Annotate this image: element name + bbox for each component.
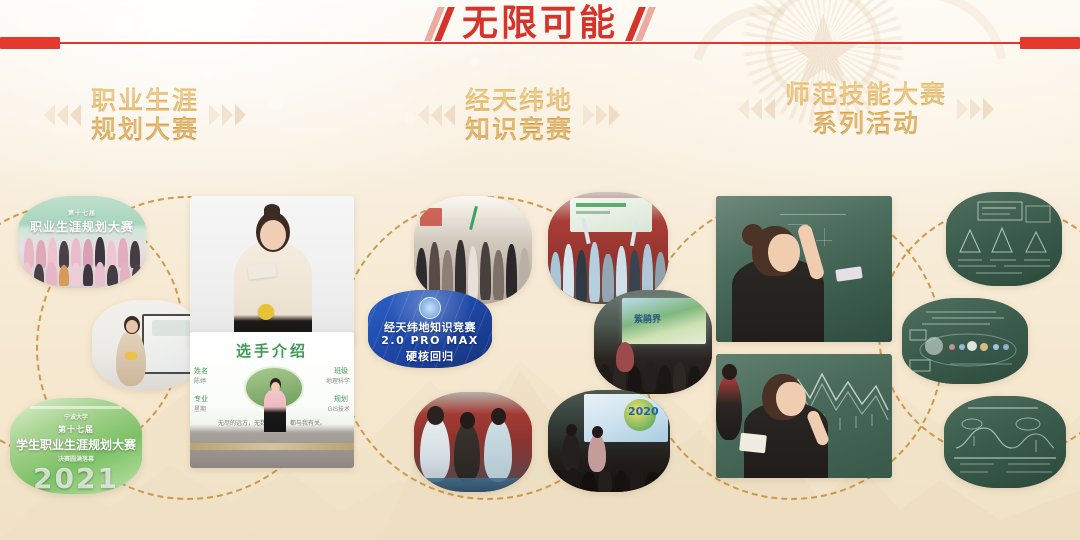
speaker-portrait-photo[interactable] bbox=[190, 196, 354, 344]
slide-year: 2020 bbox=[628, 405, 659, 418]
poster-caption-line2: 学生职业生涯规划大赛 bbox=[10, 436, 142, 453]
career-contest-poster[interactable]: 宁波大学 第十七届 学生职业生涯规划大赛 决赛圆满落幕 2021 bbox=[10, 398, 142, 494]
poster-year: 2021 bbox=[10, 462, 142, 494]
section-title-line1: 职业生涯 bbox=[91, 86, 199, 115]
chevrons-left-icon bbox=[418, 104, 455, 126]
mountain-texture bbox=[0, 240, 1080, 540]
section-headings: 职业生涯 规划大赛 经天纬地 知识竞赛 师范技能大赛 系列活动 bbox=[0, 84, 1080, 166]
lecture-projection-photo[interactable]: 紫鹃界 bbox=[594, 290, 712, 394]
blackboard-thumb-mountain-wind[interactable] bbox=[946, 192, 1062, 286]
slide-title: 选手介绍 bbox=[190, 340, 354, 361]
university-emblem-icon bbox=[419, 297, 441, 319]
blackboard-writing-photo-top[interactable] bbox=[716, 196, 892, 342]
slide-label-plan: 规划 bbox=[334, 394, 348, 404]
badge-line-3: 硬核回归 bbox=[368, 348, 492, 364]
section-title-line1: 经天纬地 bbox=[465, 86, 573, 115]
blackboard-thumb-water-cycle[interactable] bbox=[944, 396, 1066, 488]
badge-line-1: 经天纬地知识竞赛 bbox=[368, 319, 492, 335]
section-title-line2: 知识竞赛 bbox=[465, 115, 573, 144]
chevrons-right-icon bbox=[957, 98, 994, 120]
quiz-hall-hands-up-photo[interactable] bbox=[548, 192, 668, 304]
section-title-text: 经天纬地 知识竞赛 bbox=[465, 86, 573, 144]
section-title-text: 职业生涯 规划大赛 bbox=[91, 86, 199, 144]
section-heading-teaching-skills: 师范技能大赛 系列活动 bbox=[738, 80, 994, 138]
poster-header: 无限可能 bbox=[0, 0, 1080, 74]
quiz-audience-standing-photo[interactable] bbox=[414, 196, 532, 304]
slash-decoration-left-icon bbox=[431, 7, 448, 41]
section-title-line1: 师范技能大赛 bbox=[785, 80, 947, 109]
poster-canvas: 无限可能 职业生涯 规划大赛 经天纬地 知识竞赛 bbox=[0, 0, 1080, 540]
badge-line-2: 2.0 PRO MAX bbox=[368, 334, 492, 347]
chevrons-right-icon bbox=[209, 104, 246, 126]
chevrons-right-icon bbox=[583, 104, 620, 126]
chevrons-left-icon bbox=[738, 98, 775, 120]
slide-label-class: 班级 bbox=[334, 366, 348, 376]
poster-caption-line1: 第十七届 bbox=[10, 424, 142, 435]
blackboard-drawing-photo-bottom[interactable] bbox=[716, 354, 892, 478]
quiz-team-discussion-photo[interactable] bbox=[414, 392, 532, 492]
quiz-badge-2-0-pro-max[interactable]: 经天纬地知识竞赛 2.0 PRO MAX 硬核回归 bbox=[368, 290, 492, 368]
slash-decoration-right-icon bbox=[632, 7, 649, 41]
quiz-stage-hosts-photo[interactable]: 2020 bbox=[548, 390, 670, 492]
chevrons-left-icon bbox=[44, 104, 81, 126]
photo-caption-line2: 职业生涯规划大赛 bbox=[18, 218, 146, 235]
slide-label-name: 姓名 bbox=[194, 366, 208, 376]
section-title-line2: 系列活动 bbox=[785, 109, 947, 138]
contestant-intro-slide-photo[interactable]: 选手介绍 姓名 陈婷 专业 星期 班级 地理科学 规划 GIS技术 无尽的远方，… bbox=[190, 332, 354, 468]
photo-caption-line1: 第十七届 bbox=[18, 208, 146, 217]
page-title: 无限可能 bbox=[462, 6, 618, 42]
blackboard-thumb-solar-system[interactable] bbox=[902, 298, 1028, 384]
group-photo-career-contest[interactable]: 第十七届 职业生涯规划大赛 bbox=[18, 196, 146, 288]
slide-value-class: 地理科学 bbox=[326, 376, 350, 385]
section-title-text: 师范技能大赛 系列活动 bbox=[785, 80, 947, 138]
section-heading-geography-quiz: 经天纬地 知识竞赛 bbox=[418, 86, 620, 144]
section-title-line2: 规划大赛 bbox=[91, 115, 199, 144]
section-heading-career-planning: 职业生涯 规划大赛 bbox=[44, 86, 246, 144]
presenter-with-screen-photo[interactable] bbox=[92, 300, 202, 390]
slide-label-major: 专业 bbox=[194, 394, 208, 404]
